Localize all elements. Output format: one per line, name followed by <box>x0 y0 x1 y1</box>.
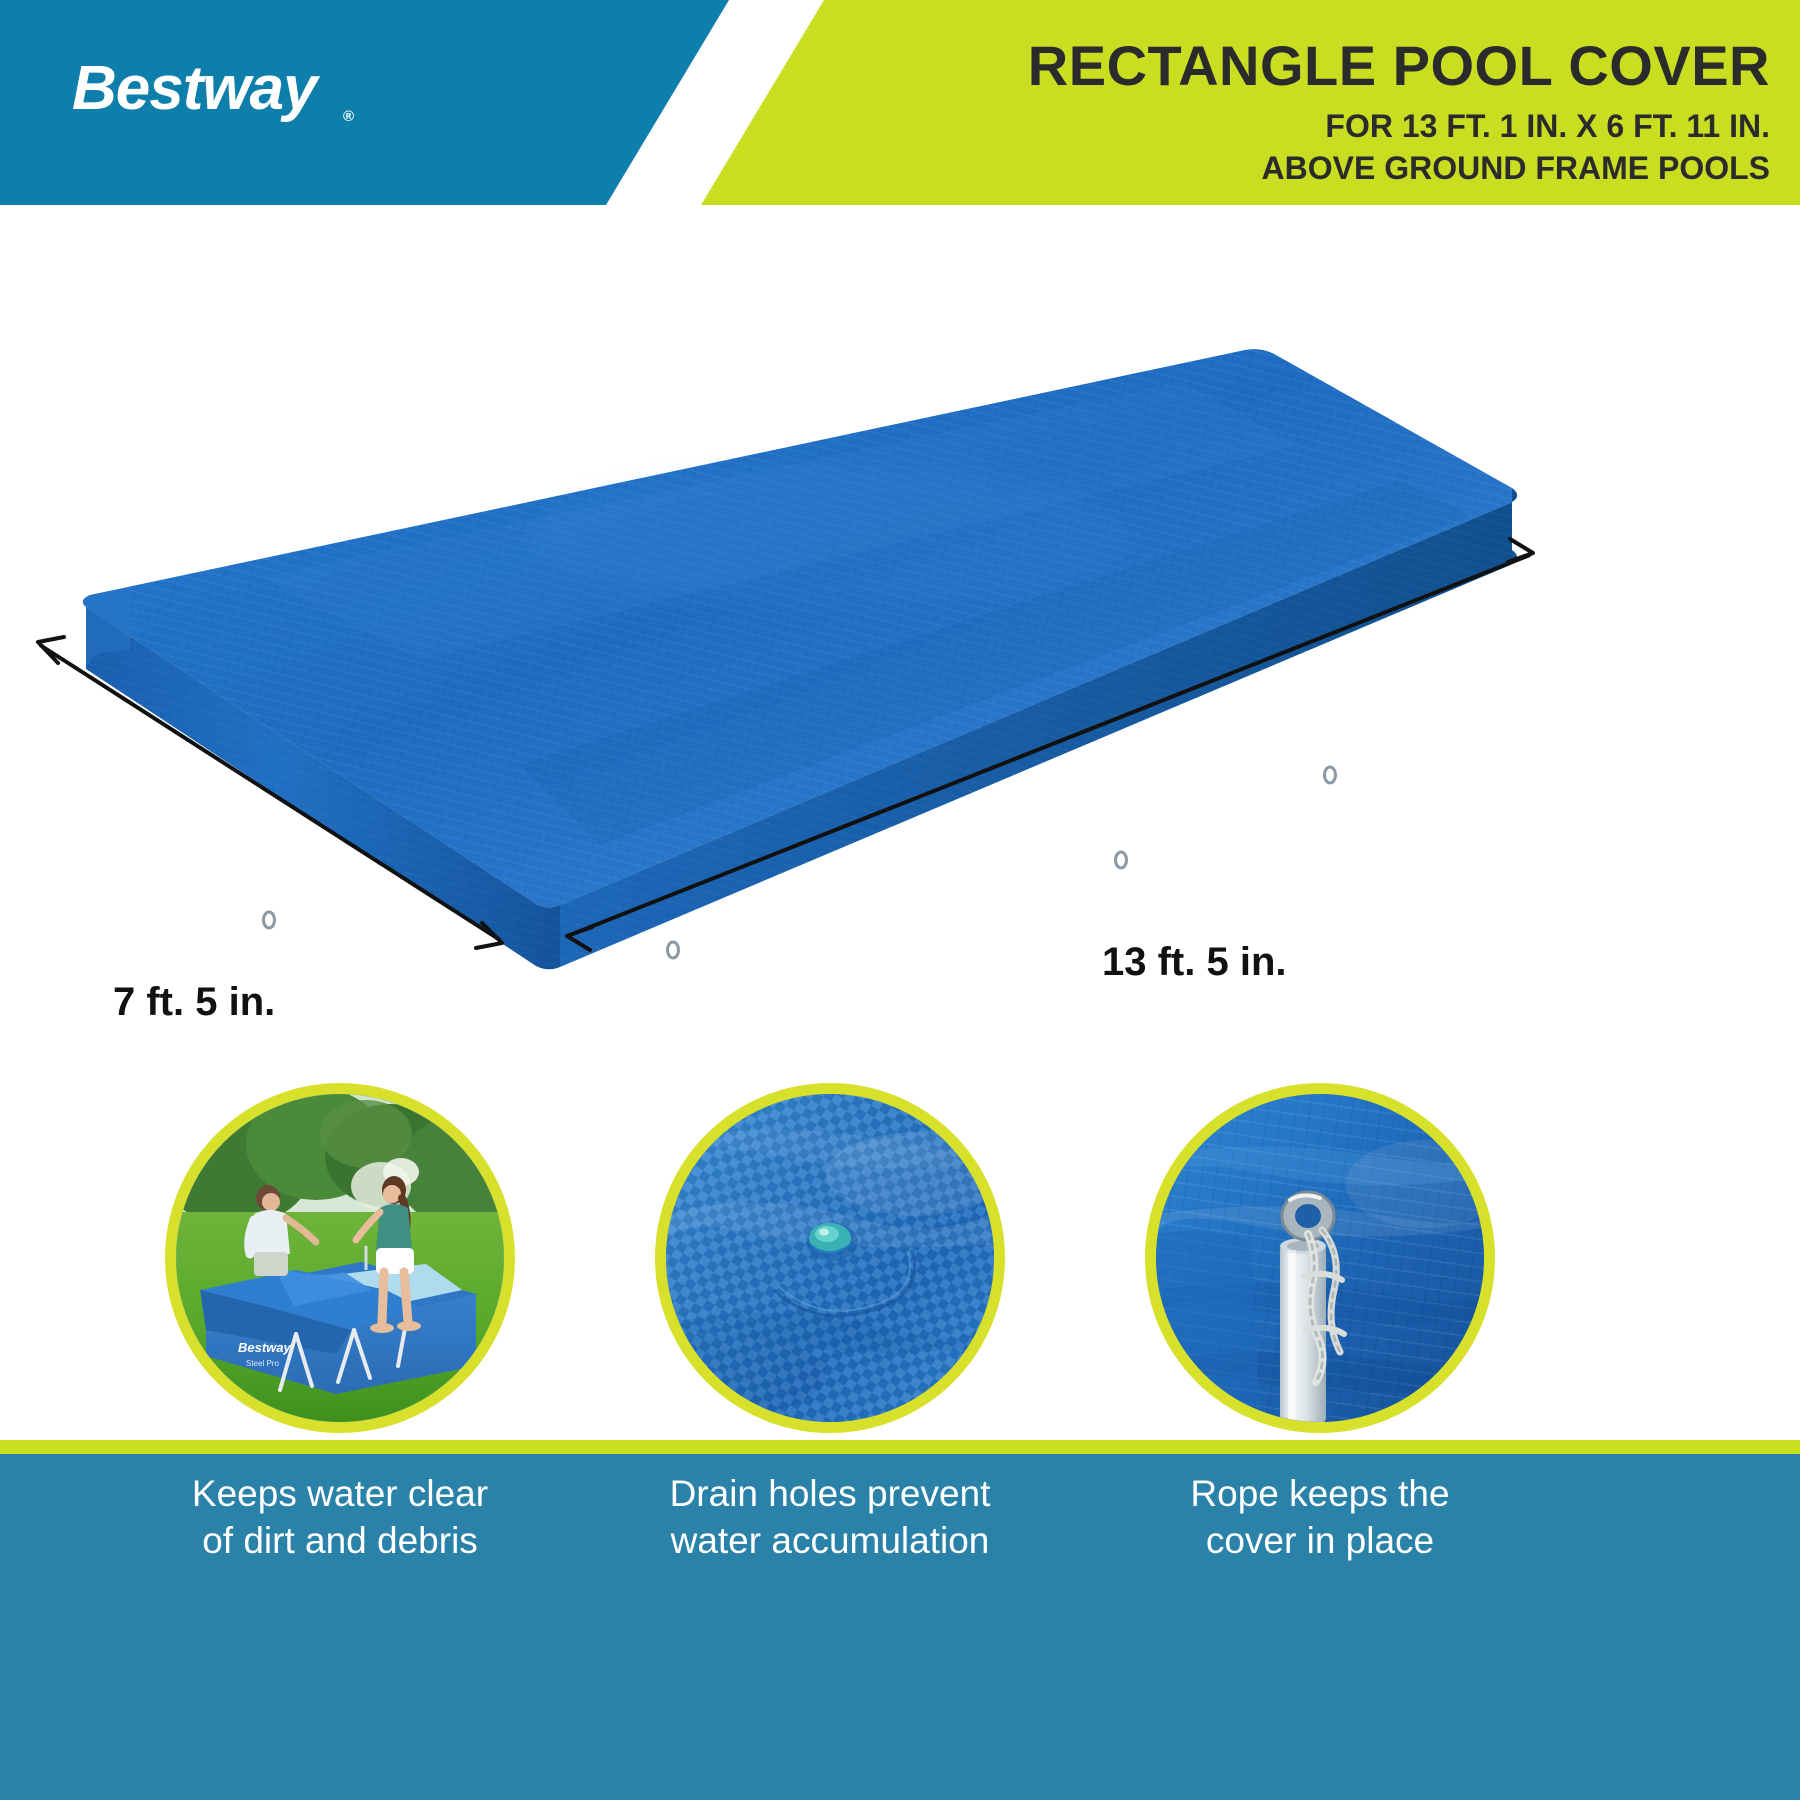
page-header: Bestway ® RECTANGLE POOL COVER FOR 13 FT… <box>0 0 1800 205</box>
page-subtitle-line-1: FOR 13 FT. 1 IN. X 6 FT. 11 IN. <box>1028 106 1770 146</box>
pool-steelpro-logo: Steel Pro <box>246 1359 279 1368</box>
pool-bestway-logo: Bestway <box>238 1340 292 1355</box>
feature-caption-2-line2: water accumulation <box>671 1520 990 1561</box>
couple-placing-cover-photo: Bestway Steel Pro <box>176 1094 504 1422</box>
hero-product-section: 7 ft. 5 in. 13 ft. 5 in. <box>0 205 1800 1235</box>
feature-photo-circle-3 <box>1145 1083 1495 1433</box>
feature-photo-circle-2 <box>655 1083 1005 1433</box>
width-dimension-label: 7 ft. 5 in. <box>113 980 275 1025</box>
feature-item-keeps-water-clear: Bestway Steel Pro Keeps water clear of d… <box>90 1083 590 1433</box>
drain-hole-closeup-photo <box>666 1094 994 1422</box>
header-title-block: RECTANGLE POOL COVER FOR 13 FT. 1 IN. X … <box>1028 38 1770 188</box>
bestway-logo: Bestway <box>72 58 317 120</box>
rope-grommet-photo <box>1156 1094 1484 1422</box>
feature-photo-circle-1: Bestway Steel Pro <box>165 1083 515 1433</box>
feature-caption-1-line1: Keeps water clear <box>192 1473 488 1514</box>
feature-caption-3-line1: Rope keeps the <box>1190 1473 1449 1514</box>
feature-item-drain-holes: Drain holes prevent water accumulation <box>580 1083 1080 1433</box>
page-title: RECTANGLE POOL COVER <box>1028 38 1770 94</box>
feature-caption-2: Drain holes prevent water accumulation <box>580 1471 1080 1565</box>
registered-trademark-icon: ® <box>343 108 354 125</box>
feature-caption-3-line2: cover in place <box>1206 1520 1434 1561</box>
feature-caption-3: Rope keeps the cover in place <box>1070 1471 1570 1565</box>
feature-caption-2-line1: Drain holes prevent <box>670 1473 991 1514</box>
length-dimension-label: 13 ft. 5 in. <box>1102 940 1287 985</box>
feature-item-rope-keeps-cover: Rope keeps the cover in place <box>1070 1083 1570 1433</box>
page-subtitle-line-2: ABOVE GROUND FRAME POOLS <box>1028 148 1770 188</box>
pool-cover-illustration <box>0 205 1800 1235</box>
feature-caption-1: Keeps water clear of dirt and debris <box>90 1471 590 1565</box>
lime-divider-bar <box>0 1440 1800 1454</box>
feature-caption-1-line2: of dirt and debris <box>202 1520 478 1561</box>
drain-hole-grommet <box>806 1223 858 1261</box>
